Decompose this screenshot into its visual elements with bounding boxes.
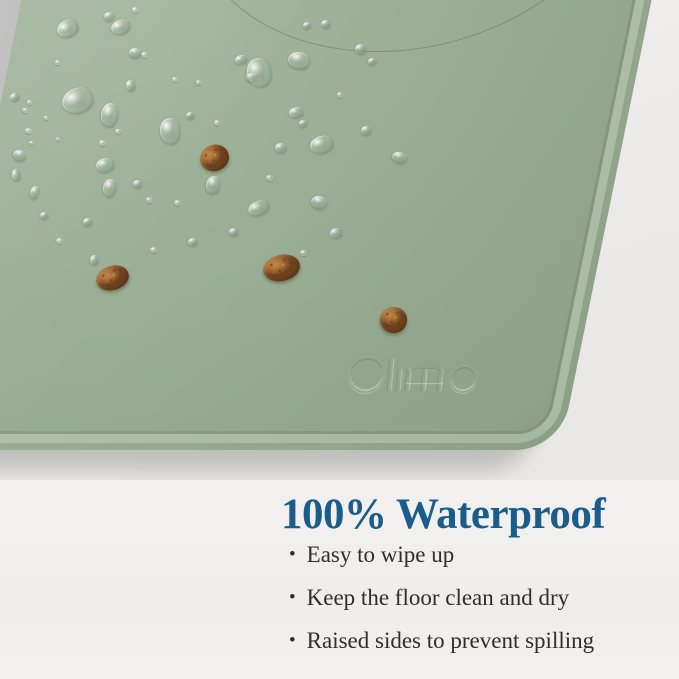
logo-letter-m	[406, 369, 448, 391]
list-item-label: Raised sides to prevent spilling	[307, 628, 594, 653]
list-item: •Easy to wipe up	[289, 543, 594, 566]
list-item: •Keep the floor clean and dry	[289, 586, 594, 609]
list-item: •Raised sides to prevent spilling	[289, 629, 594, 652]
logo-letter-o2	[448, 365, 478, 393]
logo-letter-h	[387, 358, 406, 391]
marketing-text-panel: 100% Waterproof •Easy to wipe up •Keep t…	[0, 480, 679, 679]
logo-letter-o	[346, 356, 386, 393]
product-image: 100% Waterproof •Easy to wipe up •Keep t…	[0, 0, 679, 679]
mat-surface-sheen	[0, 0, 662, 450]
pet-feeding-mat	[0, 0, 662, 450]
benefit-list: •Easy to wipe up •Keep the floor clean a…	[289, 543, 594, 672]
product-photo	[0, 0, 679, 480]
brand-logo-ohmo	[346, 356, 479, 393]
bullet-icon: •	[289, 587, 296, 608]
bullet-icon: •	[289, 630, 296, 651]
bullet-icon: •	[289, 544, 296, 565]
headline: 100% Waterproof	[281, 490, 605, 539]
list-item-label: Easy to wipe up	[307, 542, 455, 567]
list-item-label: Keep the floor clean and dry	[307, 585, 569, 610]
